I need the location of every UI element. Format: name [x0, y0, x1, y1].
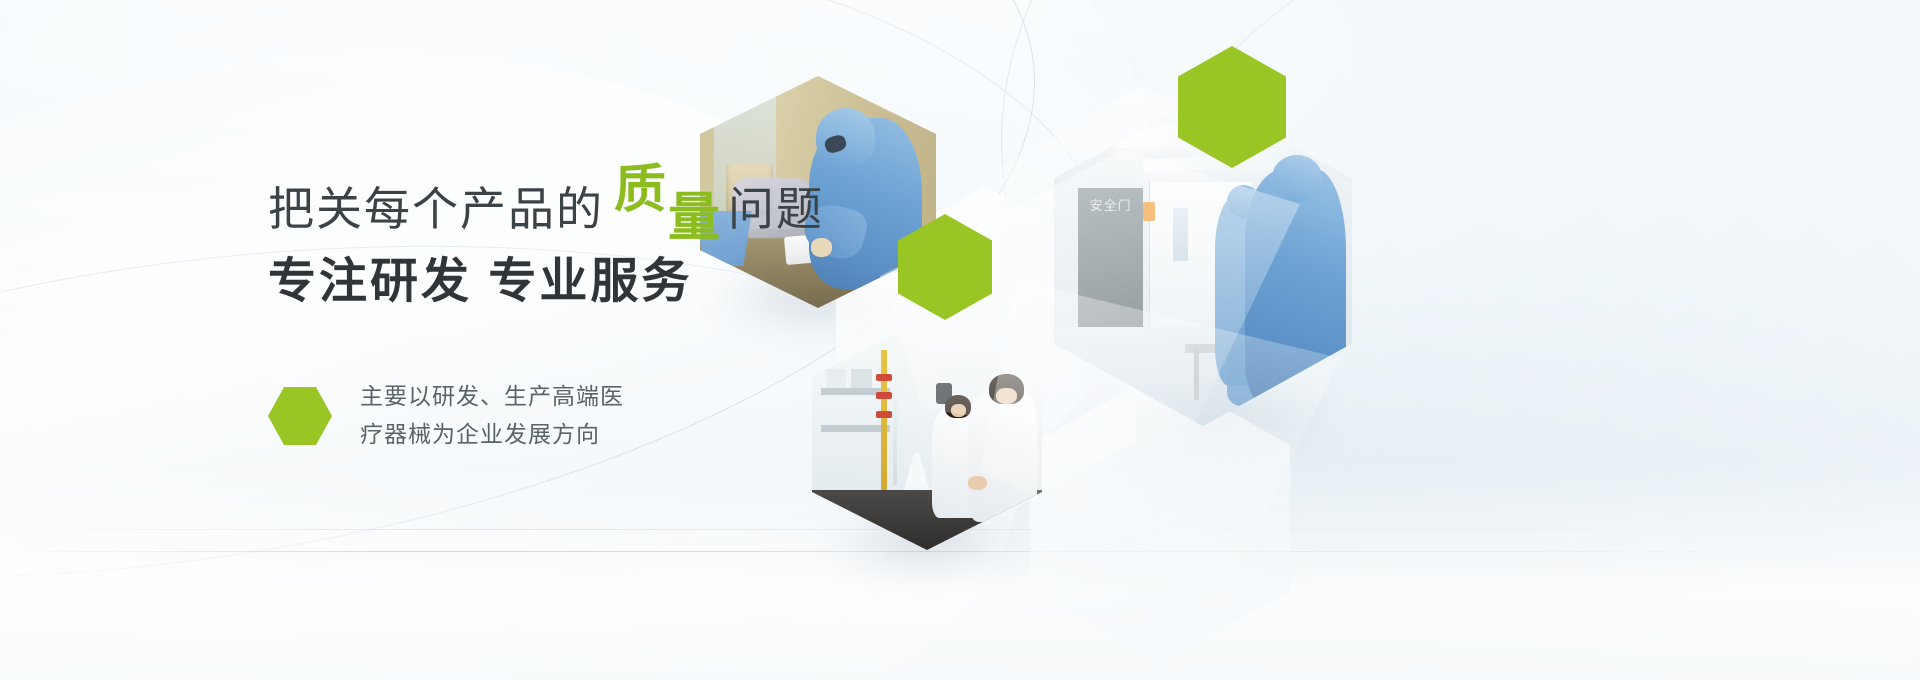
ceiling-lamp [1143, 150, 1293, 174]
work-table [1185, 344, 1286, 354]
lab-bench [812, 490, 1042, 550]
worker-face-mask [823, 133, 848, 155]
technician-hair [989, 374, 1024, 404]
background-floor-line [0, 551, 1920, 552]
background-floor-glow [0, 460, 1920, 680]
headline-suffix: 问题 [728, 186, 824, 232]
headline-primary: 把关每个产品的 质 量 问题 [268, 180, 908, 232]
green-hexagon-large [1178, 46, 1286, 168]
blue-material-pile [1227, 340, 1304, 406]
worker-hood [816, 108, 875, 166]
worker-coverall [1245, 169, 1346, 407]
technician-hair [945, 395, 970, 418]
hexagon-shadow [1062, 378, 1342, 462]
hexagon-glass-panel [1000, 86, 1286, 408]
table-leg [1272, 347, 1277, 400]
subtitle-row: 主要以研发、生产高端医 疗器械为企业发展方向 [268, 378, 908, 454]
technician-face [951, 404, 966, 417]
banner-copy: 把关每个产品的 质 量 问题 专注研发 专业服务 主要以研发、生产高端医 疗器械… [268, 180, 908, 454]
technician-lab-coat [932, 406, 978, 517]
subtitle-line-2: 疗器械为企业发展方向 [360, 416, 624, 454]
headline-secondary: 专注研发 专业服务 [268, 258, 908, 306]
technician-lab-coat [968, 388, 1037, 523]
subtitle-text: 主要以研发、生产高端医 疗器械为企业发展方向 [360, 378, 624, 454]
worker-hood [1227, 185, 1260, 218]
background-contour-line [944, 0, 1920, 680]
conical-flask [964, 457, 987, 489]
worker-coverall [1215, 195, 1275, 386]
technician-hand [968, 476, 986, 490]
headline-prefix: 把关每个产品的 [268, 186, 604, 232]
background-sweep-right [928, 0, 1920, 680]
glass-pane-overlay [980, 280, 1340, 580]
hexagon-photo-cleanroom-corridor: 安全门 [1054, 96, 1352, 426]
cleanroom-corridor-scene: 安全门 [1054, 96, 1352, 426]
ceiling-lamp [1113, 113, 1298, 149]
subtitle-line-1: 主要以研发、生产高端医 [360, 378, 624, 416]
headline-accent-zhi: 质 [614, 164, 666, 216]
background-contour-line [1078, 0, 1920, 680]
headline-accent-liang: 量 [668, 192, 720, 244]
background-floor-line [0, 529, 1920, 530]
hexagon-bullet-icon [268, 387, 332, 445]
ceiling [1054, 96, 1352, 182]
room [1054, 96, 1352, 426]
alarm-device [1143, 202, 1155, 222]
conical-flask [904, 453, 929, 490]
conical-flask [932, 446, 962, 490]
table-leg [1194, 347, 1199, 400]
technician-face [996, 388, 1017, 404]
green-hexagon-small [898, 214, 992, 320]
hexagon-shadow [820, 506, 1032, 576]
tray [1268, 302, 1329, 329]
door-window [1173, 208, 1188, 261]
hero-banner: 安全门 [0, 0, 1920, 680]
glass-pane-overlay [880, 150, 1300, 450]
worker-hood [1272, 155, 1323, 201]
door-sign-label: 安全门 [1078, 198, 1144, 214]
corridor-wall [1149, 182, 1251, 340]
hexagon-glass-panel [1030, 372, 1290, 664]
floor [1054, 327, 1352, 426]
lab-motor [936, 383, 952, 404]
safety-door: 安全门 [1078, 188, 1144, 340]
